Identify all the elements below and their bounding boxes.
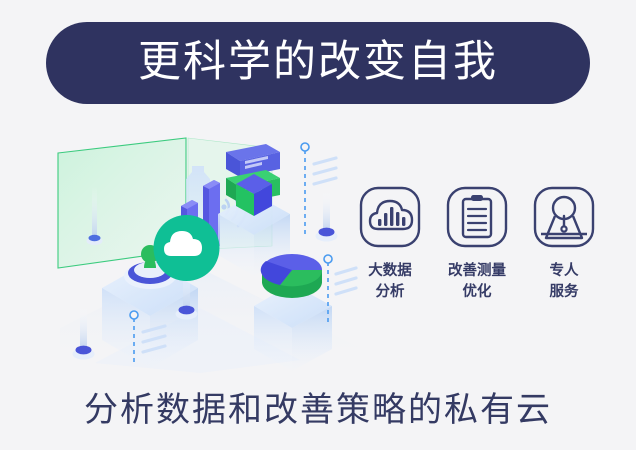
- support-person-icon: [533, 186, 595, 248]
- page-title: 更科学的改变自我: [138, 41, 498, 84]
- footer-tagline: 分析数据和改善策略的私有云: [0, 382, 636, 431]
- panel-stem-dot: [89, 235, 101, 241]
- poster-canvas: 更科学的改变自我: [0, 0, 636, 450]
- feature-label-line1: 大数据: [368, 261, 412, 282]
- wifi-dot: [221, 204, 226, 209]
- pie-chart-3d: [261, 254, 322, 298]
- feature-label-line2: 优化: [448, 282, 506, 303]
- feature-label-measurement: 改善测量 优化: [448, 261, 506, 303]
- feature-list: 大数据 分析 改善测量: [352, 186, 602, 326]
- feature-label-support: 专人 服务: [550, 261, 579, 303]
- clipboard-icon: [446, 186, 508, 248]
- feature-label-line2: 分析: [368, 282, 412, 303]
- feature-item-support[interactable]: 专人 服务: [526, 186, 602, 326]
- feature-label-big-data: 大数据 分析: [368, 261, 412, 303]
- cloud-bar-chart-icon: [359, 186, 421, 248]
- stem-marker-right: [316, 190, 338, 242]
- feature-label-line1: 改善测量: [448, 261, 506, 282]
- feature-item-measurement[interactable]: 改善测量 优化: [439, 186, 515, 326]
- feature-label-line1: 专人: [550, 261, 579, 282]
- isometric-scene-svg: [40, 128, 360, 373]
- feature-label-line2: 服务: [550, 282, 579, 303]
- header-banner: 更科学的改变自我: [46, 22, 590, 104]
- hero-illustration: [40, 128, 360, 373]
- panel-stem: [92, 186, 97, 238]
- dashed-connector-right: [301, 143, 336, 236]
- feature-item-big-data[interactable]: 大数据 分析: [352, 186, 428, 326]
